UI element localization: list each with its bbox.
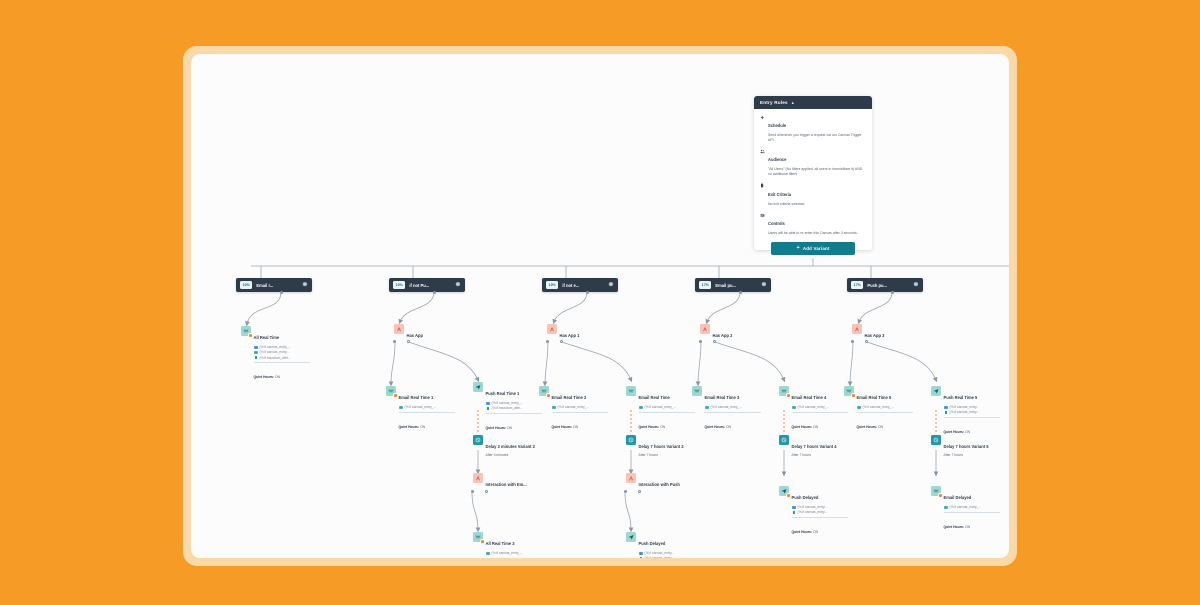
node-email-real-time-1[interactable]: Email Real Time 1 (%.if canvas_entry_...… <box>386 386 455 433</box>
channel-label: (%.if canvas_entry... <box>798 510 828 514</box>
node-title: Delay 7 hours Variant 3 <box>639 444 684 449</box>
channel-label: (%.if canvas_entry_... <box>645 405 677 409</box>
entry-rules-title: Entry Rules <box>760 100 788 105</box>
node-title: Email Real Time <box>639 395 670 400</box>
entry-rule-title: Controls <box>768 221 785 226</box>
push-message-icon <box>931 386 941 396</box>
node-title: Delay 7 hours Variant 5 <box>944 444 989 449</box>
quiet-hours: Quiet Hours: ON <box>857 425 884 429</box>
push-message-icon <box>626 532 636 542</box>
plus-icon: + <box>796 246 799 252</box>
divider <box>792 412 848 413</box>
email-icon <box>792 406 796 409</box>
node-interaction-with-push[interactable]: Interaction with Push <box>626 473 680 491</box>
variant-percentage: 17% <box>851 281 863 288</box>
in-app-message-icon <box>944 411 948 414</box>
node-title: Email Real Time 5 <box>857 395 892 400</box>
node-title: Email Delayed <box>944 495 972 500</box>
gear-icon[interactable] <box>608 282 614 288</box>
channel-row: (%.if canvas_entry... <box>944 410 1000 414</box>
quiet-hours: Quiet Hours: ON <box>792 530 819 534</box>
delay-clock-icon <box>931 435 941 445</box>
node-push-real-time-1[interactable]: Push Real Time 1 (%.if canvas_entry_... … <box>473 382 542 434</box>
node-has-app-1[interactable]: Has App 1 <box>547 324 579 342</box>
status-badge <box>393 393 398 398</box>
email-icon <box>705 406 709 409</box>
divider <box>254 362 310 363</box>
divider <box>486 413 542 414</box>
variant-percentage: 10% <box>393 281 405 288</box>
email-icon <box>552 406 556 409</box>
node-title: Has App 1 <box>560 333 580 338</box>
door-exit-icon <box>760 183 765 188</box>
quiet-hours: Quiet Hours: ON <box>254 375 281 379</box>
variant-output-port[interactable] <box>586 291 589 294</box>
node-interaction-with-email[interactable]: Interaction with Em... <box>473 473 527 491</box>
channel-label: (%.if canvas_entry_... <box>863 405 895 409</box>
channel-label: (%.if canvas_entry_... <box>950 505 982 509</box>
node-output-port[interactable] <box>546 340 549 343</box>
channel-row: (%.if canvas_entry... <box>792 505 848 509</box>
node-email-real-time-3[interactable]: Email Real Time 3 (%.if canvas_entry_...… <box>692 386 761 433</box>
channel-label: (%.if canvas_entry_... <box>260 345 292 349</box>
channel-row: (%.if canvas_entry... <box>639 556 695 558</box>
channel-label: (%.if canvas_entry... <box>950 410 980 414</box>
email-message-icon <box>779 386 789 396</box>
variant-output-port[interactable] <box>280 291 283 294</box>
email-message-icon <box>692 386 702 396</box>
push-message-icon <box>473 382 483 392</box>
email-message-icon <box>931 486 941 496</box>
delay-clock-icon <box>473 435 483 445</box>
node-title: Delay 7 hours Variant 4 <box>792 444 837 449</box>
email-message-icon <box>626 386 636 396</box>
variant-output-port[interactable] <box>891 291 894 294</box>
node-output-port[interactable] <box>713 340 716 343</box>
channel-row: (%.if bsushom_attri... <box>254 356 310 360</box>
variant-name: Push pu... <box>867 283 909 288</box>
email-icon <box>639 406 643 409</box>
node-subtitle: After 7 hours <box>639 453 684 458</box>
node-email-delayed[interactable]: Email Delayed (%.if canvas_entry_... Qui… <box>931 486 1000 533</box>
channel-label: (%.if canvas_entry_... <box>405 405 437 409</box>
connector-lines <box>191 54 1009 558</box>
email-icon <box>399 406 403 409</box>
variant-header-4[interactable]: 17% Email pu... <box>695 278 771 292</box>
entry-rule-desc: "All Users" (No filters applied, all use… <box>768 167 866 177</box>
node-title: All Real Time 3 <box>486 541 515 546</box>
email-message-icon <box>386 386 396 396</box>
channel-label: (%.if bsushom_attri... <box>492 406 523 410</box>
variant-header-3[interactable]: 10% if not e... <box>542 278 618 292</box>
channel-label: (%.if canvas_entry... <box>950 405 980 409</box>
entry-rules-body: Schedule Send whenever you trigger a req… <box>754 109 872 250</box>
entry-rule-desc: Send whenever you trigger a request via … <box>768 133 866 143</box>
audience-split-icon <box>547 324 557 334</box>
entry-rule-title: Audience <box>768 157 786 162</box>
variant-output-port[interactable] <box>739 291 742 294</box>
channel-label: (%.if canvas_entry... <box>645 556 675 558</box>
variant-header-1[interactable]: 10% Email r... <box>236 278 312 292</box>
node-title: Push Delayed <box>639 541 666 546</box>
quiet-hours: Quiet Hours: ON <box>944 430 971 434</box>
gear-icon[interactable] <box>913 282 919 288</box>
quiet-hours: Quiet Hours: ON <box>486 426 513 430</box>
channel-row: (%.if canvas_entry... <box>792 510 848 514</box>
channel-row: (%.if canvas_entry_... <box>486 401 542 405</box>
quiet-hours: Quiet Hours: ON <box>944 525 971 529</box>
channel-row: (%.if canvas_entry_... <box>486 551 542 555</box>
node-output-port[interactable] <box>407 340 410 343</box>
node-output-port[interactable] <box>471 490 474 493</box>
variant-name: Email pu... <box>715 283 757 288</box>
status-badge <box>938 493 943 498</box>
divider <box>792 517 848 518</box>
variant-percentage: 10% <box>240 281 252 288</box>
channel-row: (%.if canvas_entry_... <box>857 405 913 409</box>
email-message-icon <box>539 386 549 396</box>
divider <box>944 417 1000 418</box>
variant-name: if not Pu... <box>409 283 451 288</box>
node-title: Push Delayed <box>792 495 819 500</box>
email-icon <box>857 406 861 409</box>
entry-rule-schedule: Schedule Send whenever you trigger a req… <box>760 114 866 143</box>
node-title: Has App 3 <box>865 333 885 338</box>
gear-icon[interactable] <box>455 282 461 288</box>
node-output-port[interactable] <box>624 490 627 493</box>
node-title: Email Real Time 4 <box>792 395 827 400</box>
node-title: All Real Time <box>254 335 280 340</box>
channel-row: (%.if canvas_entry_... <box>552 405 608 409</box>
channel-label: (%.if canvas_entry_... <box>492 401 524 405</box>
node-output-port[interactable] <box>485 490 488 493</box>
channel-label: (%.if bsushom_attri... <box>260 356 291 360</box>
entry-rules-panel[interactable]: Entry Rules ▲ Schedule Send whenever you… <box>754 96 872 250</box>
node-subtitle: After 3 minutes <box>486 453 535 458</box>
quiet-hours: Quiet Hours: ON <box>552 425 579 429</box>
node-title: Email Real Time 3 <box>705 395 740 400</box>
canvas-workspace[interactable]: Entry Rules ▲ Schedule Send whenever you… <box>191 54 1009 558</box>
node-email-real-time-4[interactable]: Email Real Time 4 (%.if canvas_entry_...… <box>779 386 848 433</box>
node-output-port[interactable] <box>393 340 396 343</box>
entry-rule-title: Exit Criteria <box>768 192 791 197</box>
node-title: Has App 2 <box>713 333 733 338</box>
canvas-stage: Entry Rules ▲ Schedule Send whenever you… <box>191 54 1009 558</box>
status-badge <box>786 393 791 398</box>
node-output-port[interactable] <box>560 340 563 343</box>
node-title: Push Real Time 1 <box>486 391 520 396</box>
channel-label: (%.if canvas_entry_... <box>711 405 743 409</box>
node-delay-7-hours-variant-5[interactable]: Delay 7 hours Variant 5 After 7 hours <box>931 435 989 458</box>
variant-percentage: 17% <box>699 281 711 288</box>
in-app-message-icon <box>254 356 258 359</box>
node-push-delayed-col4[interactable]: Push Delayed (%.if canvas_entry... (%.if… <box>779 486 848 538</box>
add-variant-button[interactable]: + Add Variant <box>771 242 855 255</box>
node-has-app-3[interactable]: Has App 3 <box>852 324 884 342</box>
node-title: Email Real Time 1 <box>399 395 434 400</box>
channel-row: (%.if canvas_entry_... <box>639 405 695 409</box>
channel-row: (%.if canvas_entry_... <box>254 345 310 349</box>
delay-clock-icon <box>626 435 636 445</box>
status-badge <box>786 493 791 498</box>
variant-name: Email r... <box>256 283 298 288</box>
node-title: Email Real Time 2 <box>552 395 587 400</box>
entry-rules-header[interactable]: Entry Rules ▲ <box>754 96 872 109</box>
status-badge <box>480 539 485 544</box>
node-output-port[interactable] <box>851 340 854 343</box>
audience-split-icon <box>473 473 483 483</box>
node-delay-7-hours-variant-4[interactable]: Delay 7 hours Variant 4 After 7 hours <box>779 435 837 458</box>
variant-name: if not e... <box>562 283 604 288</box>
email-icon <box>254 351 258 354</box>
entry-rule-controls: Controls Users will be able to re-enter … <box>760 212 866 236</box>
status-badge <box>546 393 551 398</box>
node-delay-7-hours-variant-3[interactable]: Delay 7 hours Variant 3 After 7 hours <box>626 435 684 458</box>
channel-label: (%.if canvas_entry_... <box>798 405 830 409</box>
push-icon <box>254 346 258 349</box>
node-title: Delay 3 minutes Variant 2 <box>486 444 535 449</box>
entry-rule-audience: Audience "All Users" (No filters applied… <box>760 148 866 177</box>
quiet-hours: Quiet Hours: ON <box>639 425 666 429</box>
email-icon <box>486 552 490 555</box>
node-email-real-time-5[interactable]: Email Real Time 5 (%.if canvas_entry_...… <box>844 386 913 433</box>
channel-row: (%.if bsushom_attri... <box>486 406 542 410</box>
audience-split-icon <box>700 324 710 334</box>
variant-header-2[interactable]: 10% if not Pu... <box>389 278 465 292</box>
quiet-hours: Quiet Hours: ON <box>792 425 819 429</box>
node-output-port[interactable] <box>638 490 641 493</box>
node-title: Interaction with Push <box>639 482 680 487</box>
node-subtitle: After 7 hours <box>944 453 989 458</box>
push-message-icon <box>779 486 789 496</box>
sliders-icon <box>760 213 765 218</box>
node-subtitle: After 7 hours <box>792 453 837 458</box>
push-icon <box>792 506 796 509</box>
divider <box>944 512 1000 513</box>
channel-row: (%.if canvas_entry_... <box>944 505 1000 509</box>
lightning-icon <box>760 115 765 120</box>
channel-row: (%.if canvas_entry_... <box>399 405 455 409</box>
users-icon <box>760 149 765 154</box>
quiet-hours: Quiet Hours: ON <box>399 425 426 429</box>
divider <box>857 412 913 413</box>
audience-split-icon <box>852 324 862 334</box>
email-icon <box>944 506 948 509</box>
add-variant-label: Add Variant <box>803 246 830 251</box>
variant-output-port[interactable] <box>433 291 436 294</box>
channel-row: (%.if canvas_entry_... <box>792 405 848 409</box>
node-output-port[interactable] <box>865 340 868 343</box>
node-output-port[interactable] <box>699 340 702 343</box>
message-icon <box>241 326 251 336</box>
chevron-up-icon[interactable]: ▲ <box>791 100 795 105</box>
browser-frame: Entry Rules ▲ Schedule Send whenever you… <box>183 46 1017 566</box>
audience-split-icon <box>626 473 636 483</box>
variant-percentage: 10% <box>546 281 558 288</box>
push-icon <box>639 552 643 555</box>
status-badge <box>248 333 253 338</box>
divider <box>705 412 761 413</box>
divider <box>399 412 455 413</box>
message-icon <box>473 532 483 542</box>
variant-header-5[interactable]: 17% Push pu... <box>847 278 923 292</box>
push-icon <box>486 402 490 405</box>
push-icon <box>944 406 948 409</box>
in-app-message-icon <box>639 557 643 558</box>
node-title: Push Real Time 5 <box>944 395 978 400</box>
node-all-real-time-3[interactable]: All Real Time 3 (%.if canvas_entry_... Q… <box>473 532 542 558</box>
divider <box>639 412 695 413</box>
channel-label: (%.if canvas_entry... <box>798 505 828 509</box>
audience-split-icon <box>394 324 404 334</box>
status-badge <box>851 393 856 398</box>
channel-row: (%.if canvas_entry... <box>639 551 695 555</box>
node-title: Has App <box>407 333 423 338</box>
node-email-real-time-2[interactable]: Email Real Time 2 (%.if canvas_entry_...… <box>539 386 608 433</box>
channel-row: (%.if canvas_entry... <box>944 405 1000 409</box>
quiet-hours: Quiet Hours: ON <box>705 425 732 429</box>
channel-row: (%.if canvas_entry_... <box>705 405 761 409</box>
channel-label: (%.if canvas_entry_... <box>492 551 524 555</box>
gear-icon[interactable] <box>761 282 767 288</box>
email-message-icon <box>844 386 854 396</box>
in-app-message-icon <box>792 511 796 514</box>
channel-label: (%.if canvas_entry_... <box>558 405 590 409</box>
channel-label: (%.if canvas_entry... <box>260 350 290 354</box>
node-delay-3-minutes[interactable]: Delay 3 minutes Variant 2 After 3 minute… <box>473 435 535 458</box>
node-email-real-time[interactable]: Email Real Time (%.if canvas_entry_... Q… <box>626 386 695 433</box>
entry-rule-exit-criteria: Exit Criteria No exit criteria selected. <box>760 183 866 207</box>
node-title: Interaction with Em... <box>486 482 527 487</box>
delay-clock-icon <box>779 435 789 445</box>
gear-icon[interactable] <box>302 282 308 288</box>
channel-label: (%.if canvas_entry... <box>645 551 675 555</box>
node-push-delayed-col3[interactable]: Push Delayed (%.if canvas_entry... (%.if… <box>626 532 695 558</box>
divider <box>552 412 608 413</box>
entry-rule-desc: Users will be able to re-enter this Canv… <box>768 231 858 236</box>
node-has-app-2[interactable]: Has App 2 <box>700 324 732 342</box>
channel-row: (%.if canvas_entry... <box>254 350 310 354</box>
in-app-message-icon <box>486 407 490 410</box>
node-push-real-time-5[interactable]: Push Real Time 5 (%.if canvas_entry... (… <box>931 386 1000 438</box>
entry-rule-title: Schedule <box>768 123 786 128</box>
entry-rule-desc: No exit criteria selected. <box>768 202 805 207</box>
node-all-real-time[interactable]: All Real Time (%.if canvas_entry_... (%.… <box>241 326 310 383</box>
